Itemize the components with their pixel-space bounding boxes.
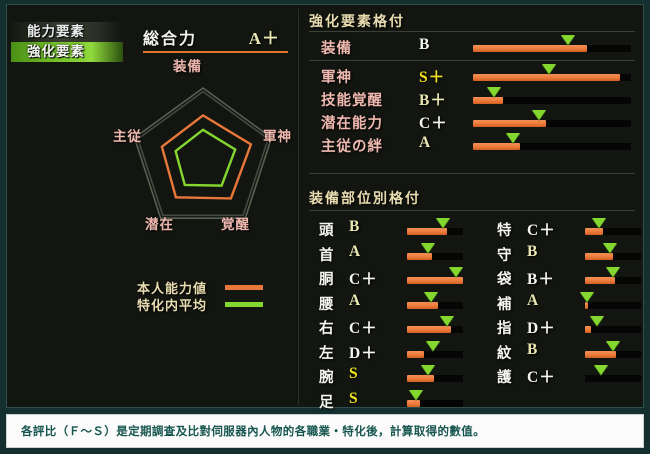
radar-axis-label-latent: 潜在 — [145, 213, 174, 233]
equipment-row-label: 特 — [497, 219, 513, 240]
grade-bar-average-marker — [603, 243, 617, 253]
reinforce-row[interactable]: 軍神S＋ — [321, 64, 633, 87]
tab-reinforce-elements[interactable]: 強化要素 — [11, 42, 123, 62]
grade-bar-track — [585, 302, 641, 309]
equipment-row-label: 足 — [319, 391, 335, 412]
equipment-row[interactable]: 右C＋ — [319, 315, 479, 338]
grade-bar-fill — [407, 400, 420, 407]
equipment-row-grade: A — [349, 243, 361, 261]
grade-bar-fill — [407, 375, 434, 382]
section-rule — [309, 210, 635, 211]
equipment-row-grade: C＋ — [349, 267, 378, 289]
grade-bar — [585, 243, 641, 260]
legend-swatch-average — [225, 302, 263, 307]
grade-bar-average-marker — [561, 35, 575, 45]
overall-power-label: 総合力 — [143, 25, 197, 49]
tab-label: 能力要素 — [27, 24, 85, 40]
grade-bar-average-marker — [421, 243, 435, 253]
equipment-row-label: 腕 — [319, 366, 335, 387]
equipment-row[interactable]: 補A — [497, 291, 650, 314]
radar-axis-label-bond: 主従 — [113, 125, 142, 145]
grade-bar-average-marker — [606, 267, 620, 277]
footer-note-bar: 各評比（Ｆ～Ｓ）是定期調查及比對伺服器內人物的各職業・特化後，計算取得的數值。 — [6, 414, 644, 448]
footer-note-text: 各評比（Ｆ～Ｓ）是定期調查及比對伺服器內人物的各職業・特化後，計算取得的數值。 — [7, 423, 485, 439]
equipment-row[interactable]: 紋B — [497, 340, 650, 363]
grade-bar-average-marker — [436, 218, 450, 228]
grade-bar-average-marker — [592, 218, 606, 228]
equipment-row-grade: A — [349, 292, 361, 310]
grade-bar-fill — [585, 351, 616, 358]
grade-bar-fill — [407, 302, 438, 309]
legend-swatch-own — [225, 285, 263, 290]
equipment-row-label: 守 — [497, 244, 513, 265]
equipment-row[interactable]: 袋B＋ — [497, 266, 650, 289]
grade-bar-average-marker — [580, 292, 594, 302]
grade-bar — [473, 133, 631, 150]
equipment-row[interactable]: 首A — [319, 242, 479, 265]
grade-bar — [407, 316, 463, 333]
equipment-row-label: 袋 — [497, 268, 513, 289]
grade-bar — [407, 390, 463, 407]
grade-bar-average-marker — [409, 390, 423, 400]
radar-axis-label-god: 軍神 — [263, 125, 292, 145]
section-rule — [309, 60, 635, 61]
equipment-row[interactable]: 特C＋ — [497, 217, 650, 240]
grade-bar-average-marker — [532, 110, 546, 120]
reinforce-section-title: 強化要素格付 — [309, 11, 405, 31]
grade-bar-fill — [585, 302, 588, 309]
equipment-row-label: 護 — [497, 366, 513, 387]
grade-bar — [473, 35, 631, 52]
tab-label: 強化要素 — [27, 44, 85, 60]
equipment-row[interactable]: 左D＋ — [319, 340, 479, 363]
grade-bar — [407, 292, 463, 309]
grade-bar-average-marker — [594, 365, 608, 375]
grade-bar — [585, 316, 641, 333]
equipment-row-grade: C＋ — [349, 316, 378, 338]
grade-bar-fill — [585, 277, 615, 284]
equipment-row-grade: S — [349, 365, 359, 383]
grade-bar-fill — [407, 277, 463, 284]
equipment-row-grade: D＋ — [349, 341, 378, 363]
grade-bar-fill — [407, 326, 451, 333]
grade-bar-average-marker — [421, 365, 435, 375]
equipment-row[interactable]: 頭B — [319, 217, 479, 240]
legend-item: 本人能力値 — [137, 279, 263, 296]
equipment-row-grade: S — [349, 390, 359, 408]
overall-power-header: 総合力 A＋ — [143, 24, 288, 53]
equipment-row[interactable]: 護C＋ — [497, 364, 650, 387]
grade-bar-track — [585, 375, 641, 382]
equipment-row[interactable]: 守B — [497, 242, 650, 265]
radar-series-特化内平均 — [176, 130, 236, 186]
equipment-row-grade: D＋ — [527, 316, 556, 338]
grade-bar-average-marker — [542, 64, 556, 74]
grade-bar — [407, 218, 463, 235]
grade-bar-fill — [585, 228, 603, 235]
equipment-row[interactable]: 胴C＋ — [319, 266, 479, 289]
section-rule — [309, 173, 635, 174]
grade-bar-average-marker — [590, 316, 604, 326]
reinforce-row-label: 技能覚醒 — [321, 89, 383, 110]
reinforce-row-grade: B＋ — [419, 88, 447, 110]
equipment-row[interactable]: 足S — [319, 389, 479, 412]
grade-bar-fill — [473, 97, 503, 104]
reinforce-row-grade: B — [419, 36, 430, 54]
reinforce-row-label: 主従の絆 — [321, 135, 383, 156]
grade-bar — [585, 292, 641, 309]
grade-bar-fill — [473, 45, 587, 52]
grade-bar-fill — [407, 228, 447, 235]
grade-bar — [407, 365, 463, 382]
grade-bar — [585, 218, 641, 235]
grade-bar — [407, 243, 463, 260]
equipment-row-grade: A — [527, 292, 539, 310]
grade-bar-fill — [473, 74, 620, 81]
grade-bar — [407, 267, 463, 284]
grade-bar-average-marker — [606, 341, 620, 351]
grade-bar-track — [585, 326, 641, 333]
equipment-row-label: 頭 — [319, 219, 335, 240]
grade-bar-fill — [407, 253, 432, 260]
grade-bar — [473, 87, 631, 104]
radar-chart-svg — [115, 55, 295, 255]
reinforce-row-grade: A — [419, 134, 431, 152]
equipment-row[interactable]: 腕S — [319, 364, 479, 387]
radar-chart: 装備 軍神 覚醒 潜在 主従 — [115, 55, 295, 255]
grade-bar — [585, 365, 641, 382]
grade-bar-average-marker — [449, 267, 463, 277]
grade-bar-average-marker — [426, 341, 440, 351]
reinforce-row[interactable]: 主従の絆A — [321, 133, 633, 156]
reinforce-row[interactable]: 技能覚醒B＋ — [321, 87, 633, 110]
equipment-row[interactable]: 指D＋ — [497, 315, 650, 338]
reinforce-row-grade: C＋ — [419, 111, 448, 133]
equipment-row-grade: B — [527, 341, 538, 359]
equipment-row-label: 左 — [319, 342, 335, 363]
main-panel: 能力要素 強化要素 総合力 A＋ 装備 軍神 覚醒 潜在 主従 本人 — [6, 4, 644, 408]
equipment-row-grade: C＋ — [527, 365, 556, 387]
equipment-row-label: 胴 — [319, 268, 335, 289]
legend-item: 特化内平均 — [137, 296, 263, 313]
legend-label: 特化内平均 — [137, 295, 219, 314]
equipment-row-label: 右 — [319, 317, 335, 338]
reinforce-row-label: 潜在能力 — [321, 112, 383, 133]
grade-bar — [585, 267, 641, 284]
grade-bar-average-marker — [440, 316, 454, 326]
radar-axis-label-equip: 装備 — [173, 55, 202, 75]
panel-divider — [298, 9, 299, 405]
grade-bar-fill — [407, 351, 424, 358]
equipment-row-label: 補 — [497, 293, 513, 314]
grade-bar-average-marker — [487, 87, 501, 97]
grade-bar-fill — [585, 253, 613, 260]
reinforce-row[interactable]: 装備B — [321, 35, 633, 58]
reinforce-row-label: 装備 — [321, 37, 352, 58]
radar-legend: 本人能力値 特化内平均 — [137, 279, 263, 313]
grade-bar-fill — [585, 326, 591, 333]
tab-list: 能力要素 強化要素 — [11, 22, 123, 62]
equipment-section-title: 装備部位別格付 — [309, 188, 421, 208]
equipment-row-grade: B — [349, 218, 360, 236]
equipment-row-label: 紋 — [497, 342, 513, 363]
overall-power-grade: A＋ — [249, 24, 288, 49]
grade-bar-average-marker — [424, 292, 438, 302]
grade-bar-fill — [473, 143, 520, 150]
tab-ability-elements[interactable]: 能力要素 — [11, 22, 123, 42]
equipment-row-grade: B — [527, 243, 538, 261]
grade-bar — [585, 341, 641, 358]
radar-axis-label-awaken: 覚醒 — [221, 213, 250, 233]
equipment-row-grade: B＋ — [527, 267, 555, 289]
equipment-row-label: 腰 — [319, 293, 335, 314]
reinforce-row-label: 軍神 — [321, 66, 352, 87]
equipment-row-grade: C＋ — [527, 218, 556, 240]
grade-bar — [473, 64, 631, 81]
grade-bar-average-marker — [506, 133, 520, 143]
section-rule — [309, 31, 635, 32]
grade-bar — [407, 341, 463, 358]
equipment-row[interactable]: 腰A — [319, 291, 479, 314]
equipment-row-label: 指 — [497, 317, 513, 338]
reinforce-row-grade: S＋ — [419, 65, 445, 87]
grade-bar-fill — [473, 120, 546, 127]
equipment-row-label: 首 — [319, 244, 335, 265]
reinforce-row[interactable]: 潜在能力C＋ — [321, 110, 633, 133]
grade-bar — [473, 110, 631, 127]
stat-panel-screen: 能力要素 強化要素 総合力 A＋ 装備 軍神 覚醒 潜在 主従 本人 — [0, 0, 650, 454]
